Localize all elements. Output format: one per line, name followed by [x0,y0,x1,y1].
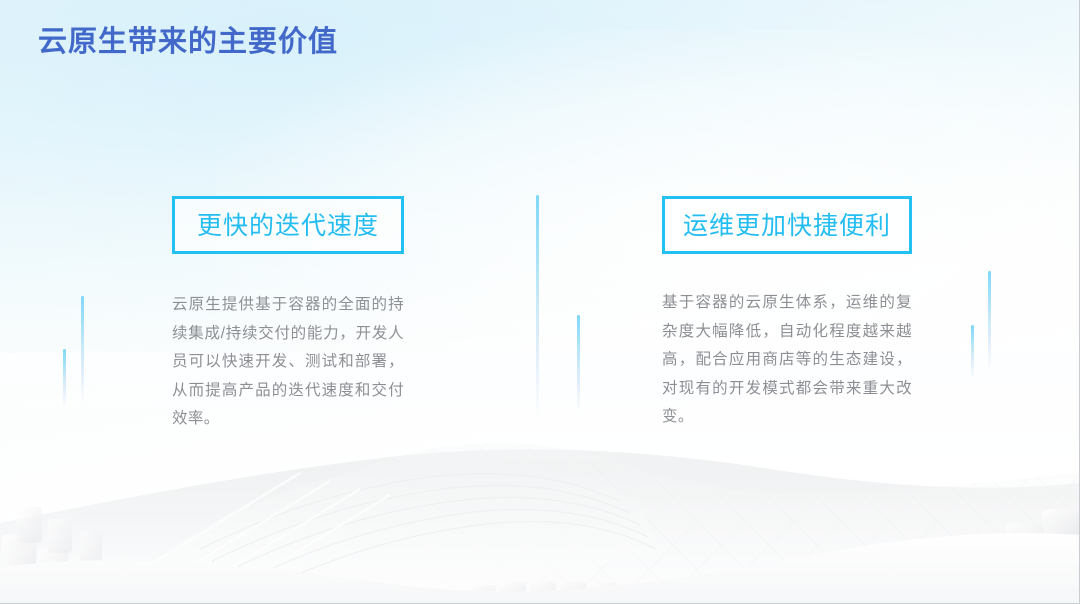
value-body-1: 云原生提供基于容器的全面的持续集成/持续交付的能力，开发人员可以快速开发、测试和… [172,291,404,434]
decorative-stroke-left-tall [81,296,84,404]
value-column-1: 更快的迭代速度 云原生提供基于容器的全面的持续集成/持续交付的能力，开发人员可以… [172,196,404,434]
artwork-top-fade [0,353,1080,473]
background-artwork [0,353,1080,603]
page-title: 云原生带来的主要价值 [38,18,338,60]
content-columns: 更快的迭代速度 云原生提供基于容器的全面的持续集成/持续交付的能力，开发人员可以… [0,0,1080,604]
value-heading-1: 更快的迭代速度 [172,196,404,254]
terrain-illustration [0,353,1080,603]
value-body-2: 基于容器的云原生体系，运维的复杂度大幅降低，自动化程度越来越高，配合应用商店等的… [662,289,912,432]
value-column-2: 运维更加快捷便利 基于容器的云原生体系，运维的复杂度大幅降低，自动化程度越来越高… [662,196,912,432]
slide-canvas: 云原生带来的主要价值 更快的迭代速度 云原生提供基于容器的全面的持续集成/持续交… [0,0,1080,604]
decorative-stroke-left-short [63,349,66,407]
decorative-stroke-middle-tall [536,195,539,417]
value-heading-2: 运维更加快捷便利 [662,196,912,254]
decorative-stroke-middle-short [577,315,580,413]
decorative-stroke-right-tall [988,271,991,371]
decorative-stroke-right-short [971,325,974,379]
